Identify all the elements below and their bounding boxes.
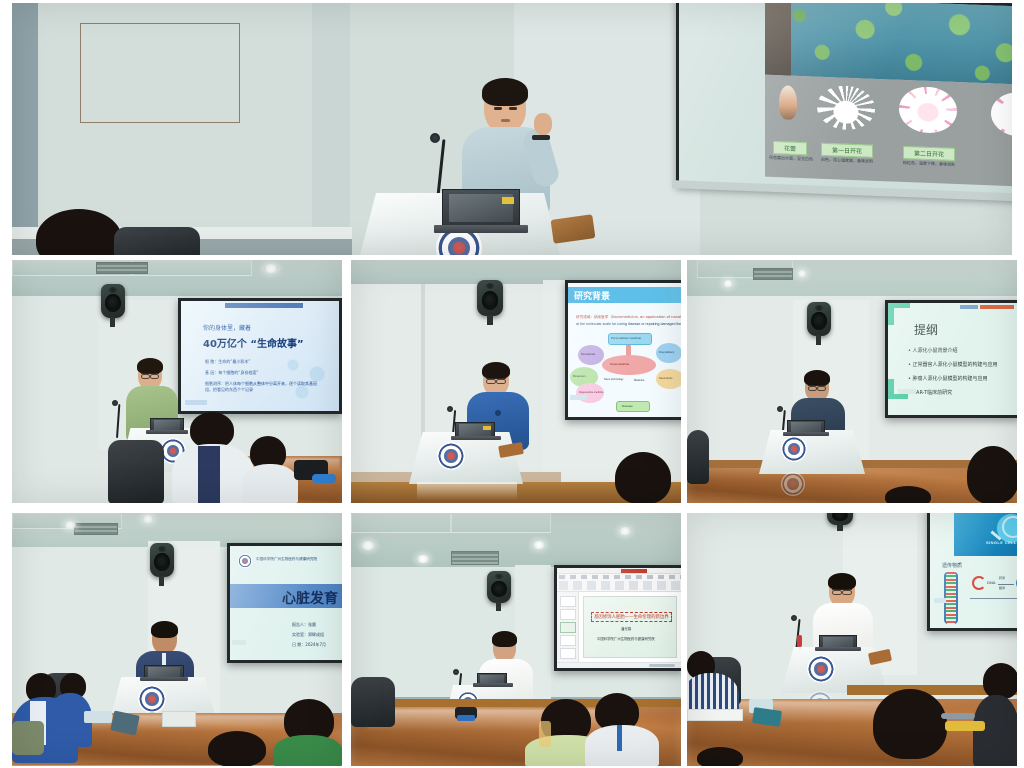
slide-meta-1: 实验室：郑辉成组 <box>292 632 324 638</box>
audience-head <box>885 486 931 503</box>
flow-label-3: 翻译 <box>999 586 1005 590</box>
slide-banner-text: SINGLE CELL GENOMICS <box>986 540 1017 545</box>
microphone-head <box>777 406 783 412</box>
diagram-node-3: Drug delivery <box>659 351 674 354</box>
audience-head <box>190 412 234 448</box>
glasses-icon <box>832 589 852 593</box>
podium[interactable] <box>759 430 865 474</box>
photo-collage: 花蕾 花苞露出水面，呈玉白色 第一日开花 白色，花心温度高，香味浓烈 第二日开花… <box>0 0 1024 768</box>
slide-title: 心脏发育 <box>282 588 338 608</box>
audience-body <box>242 464 298 503</box>
projection-screen-top[interactable]: 花蕾 花苞露出水面，呈玉白色 第一日开花 白色，花心温度高，香味浓烈 第二日开花… <box>676 3 1012 200</box>
slide-stage-label-1: 第一日开花 <box>821 143 873 158</box>
audience-head <box>967 446 1017 503</box>
microphone-head <box>430 133 440 143</box>
ceiling-vent <box>96 262 148 274</box>
panel-mid-center[interactable]: 研究背景 研究领域：纳米医学（Nanomedicine, an applicat… <box>351 260 681 503</box>
slide-meta-0: 报告人：张晨 <box>292 622 316 628</box>
projection-screen-mid-left[interactable]: 你的身体里，藏着 40万亿个 “生命故事” 细 胞：生命的“最小积木” 基 因：… <box>178 298 342 414</box>
hair <box>151 621 178 638</box>
screen-surface: 研究背景 研究领域：纳米医学（Nanomedicine, an applicat… <box>568 283 681 417</box>
panel-mid-right[interactable]: 提纲 • 人源化小鼠背景介绍 • 正常器官人源化小鼠模型的构建与应用 • 肿瘤人… <box>687 260 1017 503</box>
ceiling-downlight <box>264 264 278 273</box>
ceiling-downlight <box>797 270 807 277</box>
slide-bullet-0: 细 胞：生命的“最小积木” <box>205 359 250 365</box>
hair <box>828 573 856 590</box>
podium-crest <box>781 436 807 462</box>
slide-40trillion: 你的身体里，藏着 40万亿个 “生命故事” 细 胞：生命的“最小积木” 基 因：… <box>181 301 339 411</box>
laptop-keyboard[interactable] <box>140 677 188 681</box>
diagram-node-2: Biomaterials <box>581 353 595 356</box>
dna-helix-icon <box>944 572 958 624</box>
diagram-node-8: Nanorobots <box>659 377 672 380</box>
slide-stage-label-2: 第二日开花 <box>903 146 955 161</box>
projection-screen-bot-left[interactable]: 中国科学院广州生物医药与健康研究院 心脏发育 报告人：张晨 实验室：郑辉成组 日… <box>227 543 342 663</box>
projection-screen-bot-right[interactable]: SINGLE CELL GENOMICS 遗传物质 DNA 转录 翻译 <box>927 513 1017 631</box>
screen-surface: 中国科学院广州生物医药与健康研究院 心脏发育 报告人：张晨 实验室：郑辉成组 日… <box>230 546 342 660</box>
screen-surface: SINGLE CELL GENOMICS 遗传物质 DNA 转录 翻译 <box>930 513 1017 628</box>
ppt-slide-org: 中国科学院广州生物医药与健康研究院 <box>597 636 655 641</box>
ceiling-downlight <box>417 555 429 563</box>
microphone-head <box>791 615 797 621</box>
laptop-keyboard[interactable] <box>783 432 829 436</box>
slide-header: 提纲 <box>914 321 938 338</box>
slide-section-label: 遗传物质 <box>942 562 962 569</box>
wood-wall-left <box>351 290 421 476</box>
institute-logo <box>238 554 252 568</box>
diagram-node-5: Nano technology <box>604 378 623 381</box>
glasses-icon <box>486 378 506 382</box>
slide-bullet-1: 基 因：每个细胞的“身份档案” <box>205 370 258 376</box>
slide-org-line: 中国科学院广州生物医药与健康研究院 <box>256 557 317 562</box>
chair <box>351 677 395 727</box>
presenter-head <box>493 633 516 662</box>
diagram-node-7: Regenerative medicine <box>579 391 603 394</box>
projection-screen-bot-center[interactable]: 基因修饰人胚胎——生命伦理的新边界 潘光锦 中国科学院广州生物医药与健康研究院 <box>554 565 681 671</box>
ceiling-downlight <box>619 527 631 535</box>
wall-loudspeaker <box>101 284 125 318</box>
glasses-icon <box>808 385 826 389</box>
screen-surface: 花蕾 花苞露出水面，呈玉白色 第一日开花 白色，花心温度高，香味浓烈 第二日开花… <box>679 3 1012 197</box>
hair <box>804 370 830 386</box>
slide-stage-label-0: 花蕾 <box>773 141 807 155</box>
hair <box>137 358 163 374</box>
diagram-node-1: Nanomedicine <box>610 362 629 366</box>
podium-crest-reflection <box>781 472 805 496</box>
powerpoint-window[interactable]: 基因修饰人胚胎——生命伦理的新边界 潘光锦 中国科学院广州生物医药与健康研究院 <box>557 568 681 668</box>
wood-wall-left <box>687 513 751 663</box>
slide-kicker: 你的身体里，藏着 <box>203 323 251 332</box>
screen-surface: 基因修饰人胚胎——生命伦理的新边界 潘光锦 中国科学院广州生物医药与健康研究院 <box>557 568 681 668</box>
slide-header: 研究背景 <box>574 289 610 302</box>
ceiling-downlight <box>533 541 545 549</box>
hair <box>482 362 510 379</box>
audience-head <box>873 689 947 759</box>
laptop-keyboard[interactable] <box>815 647 861 651</box>
ppt-slide-title: 基因修饰人胚胎——生命伦理的新边界 <box>591 612 672 622</box>
slide-water-lily: 花蕾 花苞露出水面，呈玉白色 第一日开花 白色，花心温度高，香味浓烈 第二日开花… <box>693 3 1012 197</box>
wall-loudspeaker <box>807 302 831 336</box>
slide-meta-2: 日 期：2024年7月 <box>292 642 326 648</box>
chair <box>114 227 200 255</box>
screen-surface: 你的身体里，藏着 40万亿个 “生命故事” 细 胞：生命的“最小积木” 基 因：… <box>181 301 339 411</box>
diagram-node-6: Medicine <box>634 379 644 382</box>
ceiling-downlight <box>723 280 733 287</box>
audience-head <box>208 731 266 766</box>
microphone-head <box>447 406 453 412</box>
screen-surface: 提纲 • 人源化小鼠背景介绍 • 正常器官人源化小鼠模型的构建与应用 • 肿瘤人… <box>888 303 1017 415</box>
projection-screen-mid-center[interactable]: 研究背景 研究领域：纳米医学（Nanomedicine, an applicat… <box>565 280 681 420</box>
slide-outline: 提纲 • 人源化小鼠背景介绍 • 正常器官人源化小鼠模型的构建与应用 • 肿瘤人… <box>888 303 1017 415</box>
laptop-keyboard[interactable] <box>451 436 501 440</box>
audience-body <box>585 725 659 766</box>
wall-loudspeaker <box>487 571 511 603</box>
podium-crest <box>138 685 166 713</box>
hair <box>492 631 517 647</box>
panel-bot-right[interactable]: SINGLE CELL GENOMICS 遗传物质 DNA 转录 翻译 <box>687 513 1017 766</box>
microphone-head <box>453 669 459 675</box>
slide-bullet-2: • 肿瘤人源化小鼠模型的构建与应用 <box>908 375 988 382</box>
diagram-node-4: Biosensors <box>573 375 586 378</box>
panel-mid-left[interactable]: 你的身体里，藏着 40万亿个 “生命故事” 细 胞：生命的“最小积木” 基 因：… <box>12 260 342 503</box>
podium-crest <box>807 655 835 683</box>
glasses-icon <box>141 373 159 377</box>
slide-heart-development: 中国科学院广州生物医药与健康研究院 心脏发育 报告人：张晨 实验室：郑辉成组 日… <box>230 546 342 660</box>
wall-loudspeaker <box>477 280 503 316</box>
ceiling-vent <box>753 268 793 280</box>
ceiling-vent <box>74 523 118 535</box>
audience-head <box>615 452 671 503</box>
projection-screen-mid-right[interactable]: 提纲 • 人源化小鼠背景介绍 • 正常器官人源化小鼠模型的构建与应用 • 肿瘤人… <box>885 300 1017 418</box>
slide-bullet-1: • 正常器官人源化小鼠模型的构建与应用 <box>908 361 998 368</box>
ppt-slide-author: 潘光锦 <box>621 626 631 631</box>
slide-bullet-0: • 人源化小鼠背景介绍 <box>908 347 958 354</box>
presenter-head <box>152 623 177 654</box>
wall-loudspeaker <box>150 543 174 577</box>
wood-wall <box>16 280 98 480</box>
ceiling-vent <box>451 551 499 565</box>
flow-label-1: 转录 <box>999 576 1005 580</box>
chair <box>108 440 164 503</box>
slide-body-line2: at the molecular scale for curing diseas… <box>576 322 681 327</box>
laptop-keyboard[interactable] <box>473 683 513 687</box>
panel-top[interactable]: 花蕾 花苞露出水面，呈玉白色 第一日开花 白色，花心温度高，香味浓烈 第二日开花… <box>12 3 1012 255</box>
diagram-node-9: Disease <box>622 404 633 408</box>
audience-head <box>697 747 743 766</box>
ceiling-downlight <box>64 521 76 529</box>
hair <box>482 78 527 106</box>
chair <box>687 430 709 484</box>
presenter-head <box>484 81 526 133</box>
slide-single-cell-genomics: SINGLE CELL GENOMICS 遗传物质 DNA 转录 翻译 <box>930 513 1017 628</box>
slide-research-background: 研究背景 研究领域：纳米医学（Nanomedicine, an applicat… <box>568 283 681 417</box>
podium-crest <box>437 442 465 470</box>
laptop-screen[interactable] <box>442 189 520 227</box>
panel-bot-left[interactable]: 中国科学院广州生物医药与健康研究院 心脏发育 报告人：张晨 实验室：郑辉成组 日… <box>12 513 342 766</box>
flow-label-0: DNA <box>987 580 995 585</box>
laptop-keyboard[interactable] <box>434 225 528 233</box>
ceiling-downlight <box>142 515 154 523</box>
diagram-node-0: Personalized medicine <box>611 336 641 340</box>
laptop-keyboard[interactable] <box>146 430 188 434</box>
ceiling-downlight <box>361 541 375 550</box>
panel-bot-center[interactable]: 基因修饰人胚胎——生命伦理的新边界 潘光锦 中国科学院广州生物医药与健康研究院 <box>351 513 681 766</box>
slide-body-line1: 研究领域：纳米医学（Nanomedicine, an application o… <box>576 315 681 320</box>
microphone-head <box>112 400 118 406</box>
wall-loudspeaker <box>827 513 853 525</box>
audience-head <box>983 663 1017 699</box>
audience-body <box>274 735 342 766</box>
